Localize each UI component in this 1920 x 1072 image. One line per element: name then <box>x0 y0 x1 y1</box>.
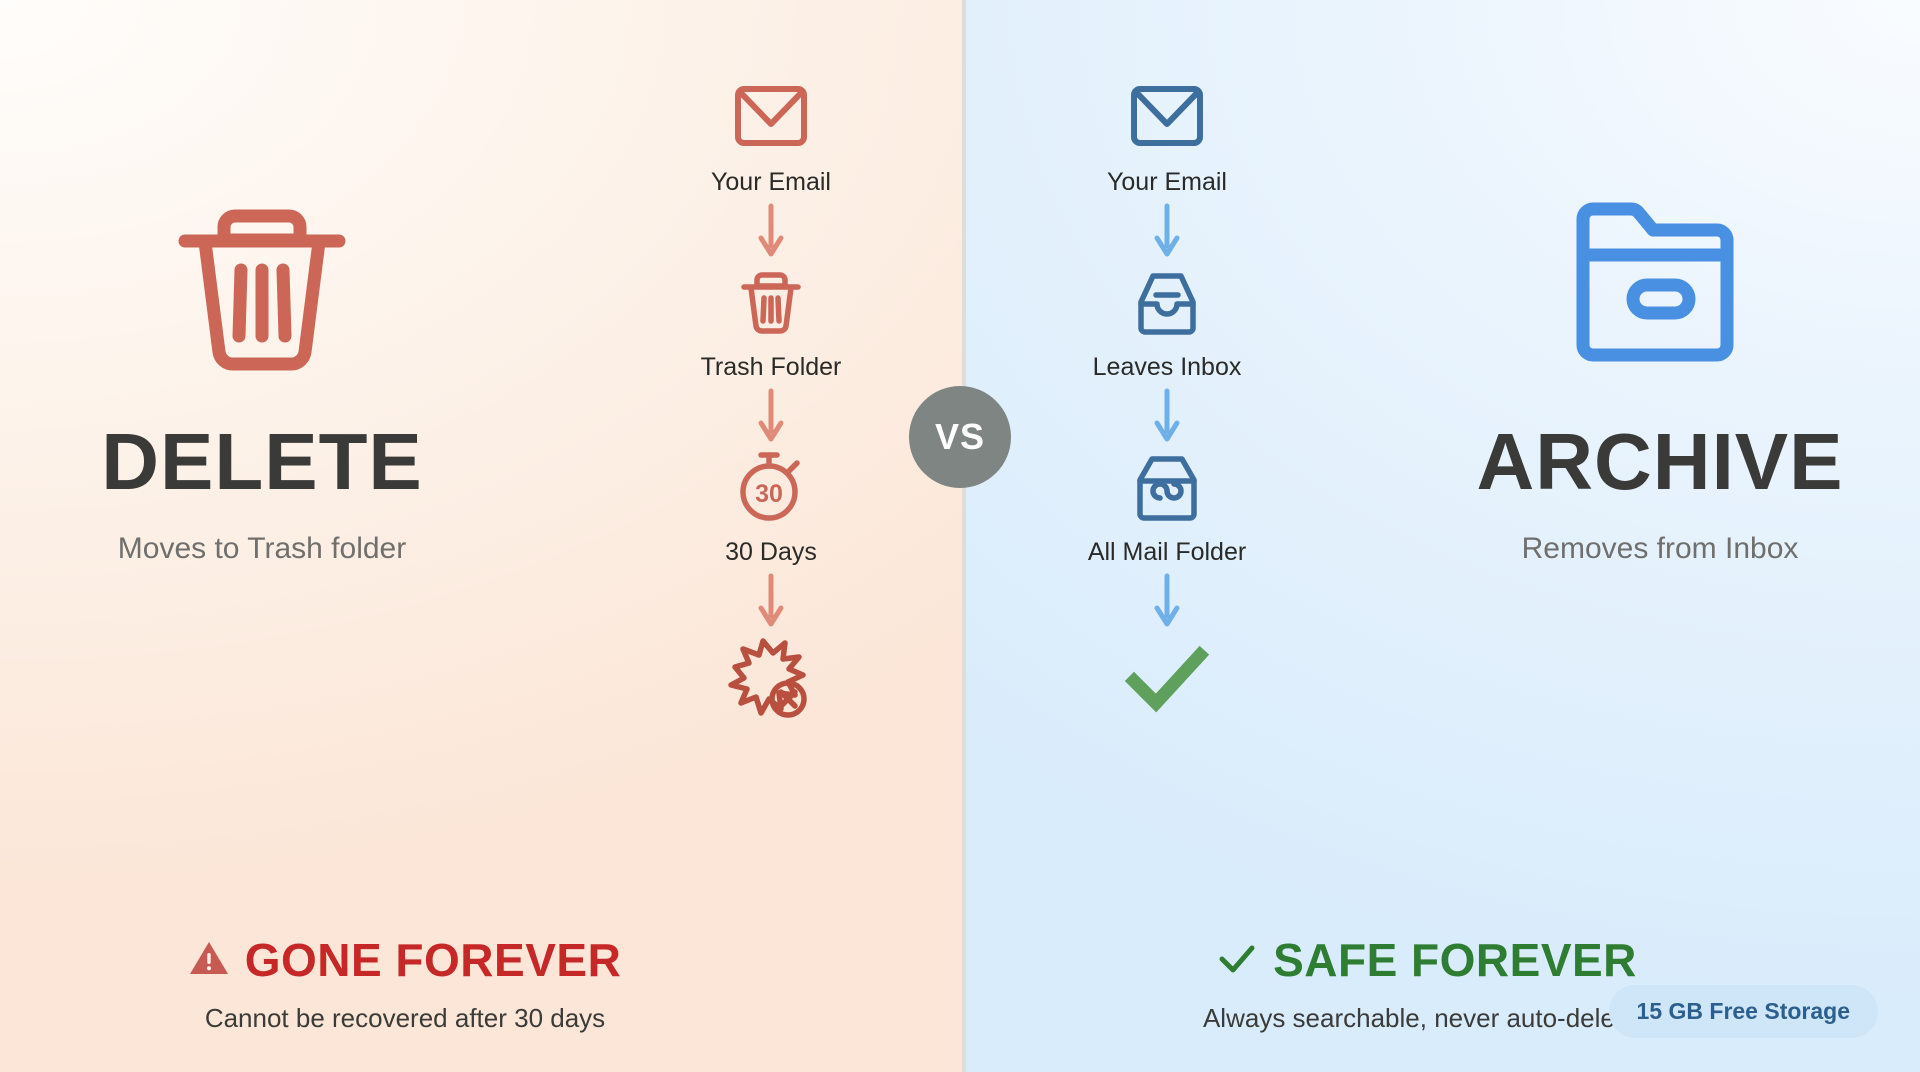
flow-arrow-down-1 <box>1152 199 1182 263</box>
flow-label-30-days: 30 Days <box>725 538 817 567</box>
comparison-infographic: DELETE Moves to Trash folder Your Email <box>0 0 1920 1072</box>
flow-arrow-down-1 <box>756 199 786 263</box>
flow-node-your-email: Your Email <box>1107 78 1227 197</box>
delete-hero: DELETE Moves to Trash folder <box>2 178 522 566</box>
flow-label-your-email: Your Email <box>711 168 831 197</box>
delete-verdict: GONE FOREVER Cannot be recovered after 3… <box>0 937 886 1034</box>
trash-can-icon <box>738 263 804 339</box>
delete-verdict-subtext: Cannot be recovered after 30 days <box>0 1003 886 1034</box>
flow-arrow-down-2 <box>1152 384 1182 448</box>
archive-verdict-headline-row: SAFE FOREVER <box>1217 937 1637 983</box>
explosion-destroyed-icon <box>725 639 817 719</box>
flow-node-your-email: Your Email <box>711 78 831 197</box>
check-mark-icon <box>1217 937 1257 983</box>
flow-node-all-mail-folder: All Mail Folder <box>1088 448 1246 567</box>
envelope-icon <box>733 78 809 154</box>
inbox-tray-icon <box>1127 263 1207 339</box>
archive-verdict-headline: SAFE FOREVER <box>1273 937 1637 983</box>
flow-label-leaves-inbox: Leaves Inbox <box>1093 353 1242 382</box>
trash-can-icon <box>2 178 522 378</box>
flow-label-all-mail-folder: All Mail Folder <box>1088 538 1246 567</box>
flow-arrow-down-2 <box>756 384 786 448</box>
archive-hero: ARCHIVE Removes from Inbox <box>1400 178 1920 566</box>
delete-title: DELETE <box>2 422 522 502</box>
vs-badge: VS <box>909 386 1011 488</box>
delete-subtitle: Moves to Trash folder <box>2 532 522 566</box>
flow-label-your-email: Your Email <box>1107 168 1227 197</box>
delete-verdict-headline-row: GONE FOREVER <box>189 937 622 983</box>
flow-node-leaves-inbox: Leaves Inbox <box>1093 263 1242 382</box>
delete-panel: DELETE Moves to Trash folder Your Email <box>0 0 962 1072</box>
archive-flow: Your Email Leaves Inbox <box>1002 78 1332 719</box>
flow-arrow-down-3 <box>756 569 786 633</box>
archive-subtitle: Removes from Inbox <box>1400 532 1920 566</box>
stopwatch-icon: 30 <box>731 448 811 524</box>
delete-flow: Your Email <box>606 78 936 719</box>
all-mail-box-infinity-icon <box>1125 448 1209 524</box>
archive-panel: ARCHIVE Removes from Inbox Your Email <box>962 0 1920 1072</box>
flow-arrow-down-3 <box>1152 569 1182 633</box>
flow-node-trash-folder: Trash Folder <box>701 263 842 382</box>
delete-verdict-headline: GONE FOREVER <box>245 937 622 983</box>
flow-label-trash-folder: Trash Folder <box>701 353 842 382</box>
archive-title: ARCHIVE <box>1400 422 1920 502</box>
envelope-icon <box>1129 78 1205 154</box>
warning-triangle-icon <box>189 937 229 983</box>
storage-badge: 15 GB Free Storage <box>1609 985 1878 1038</box>
stopwatch-value: 30 <box>755 480 783 508</box>
archive-folder-icon <box>1400 178 1920 378</box>
check-mark-icon <box>1122 639 1212 719</box>
flow-node-30-days: 30 30 Days <box>725 448 817 567</box>
